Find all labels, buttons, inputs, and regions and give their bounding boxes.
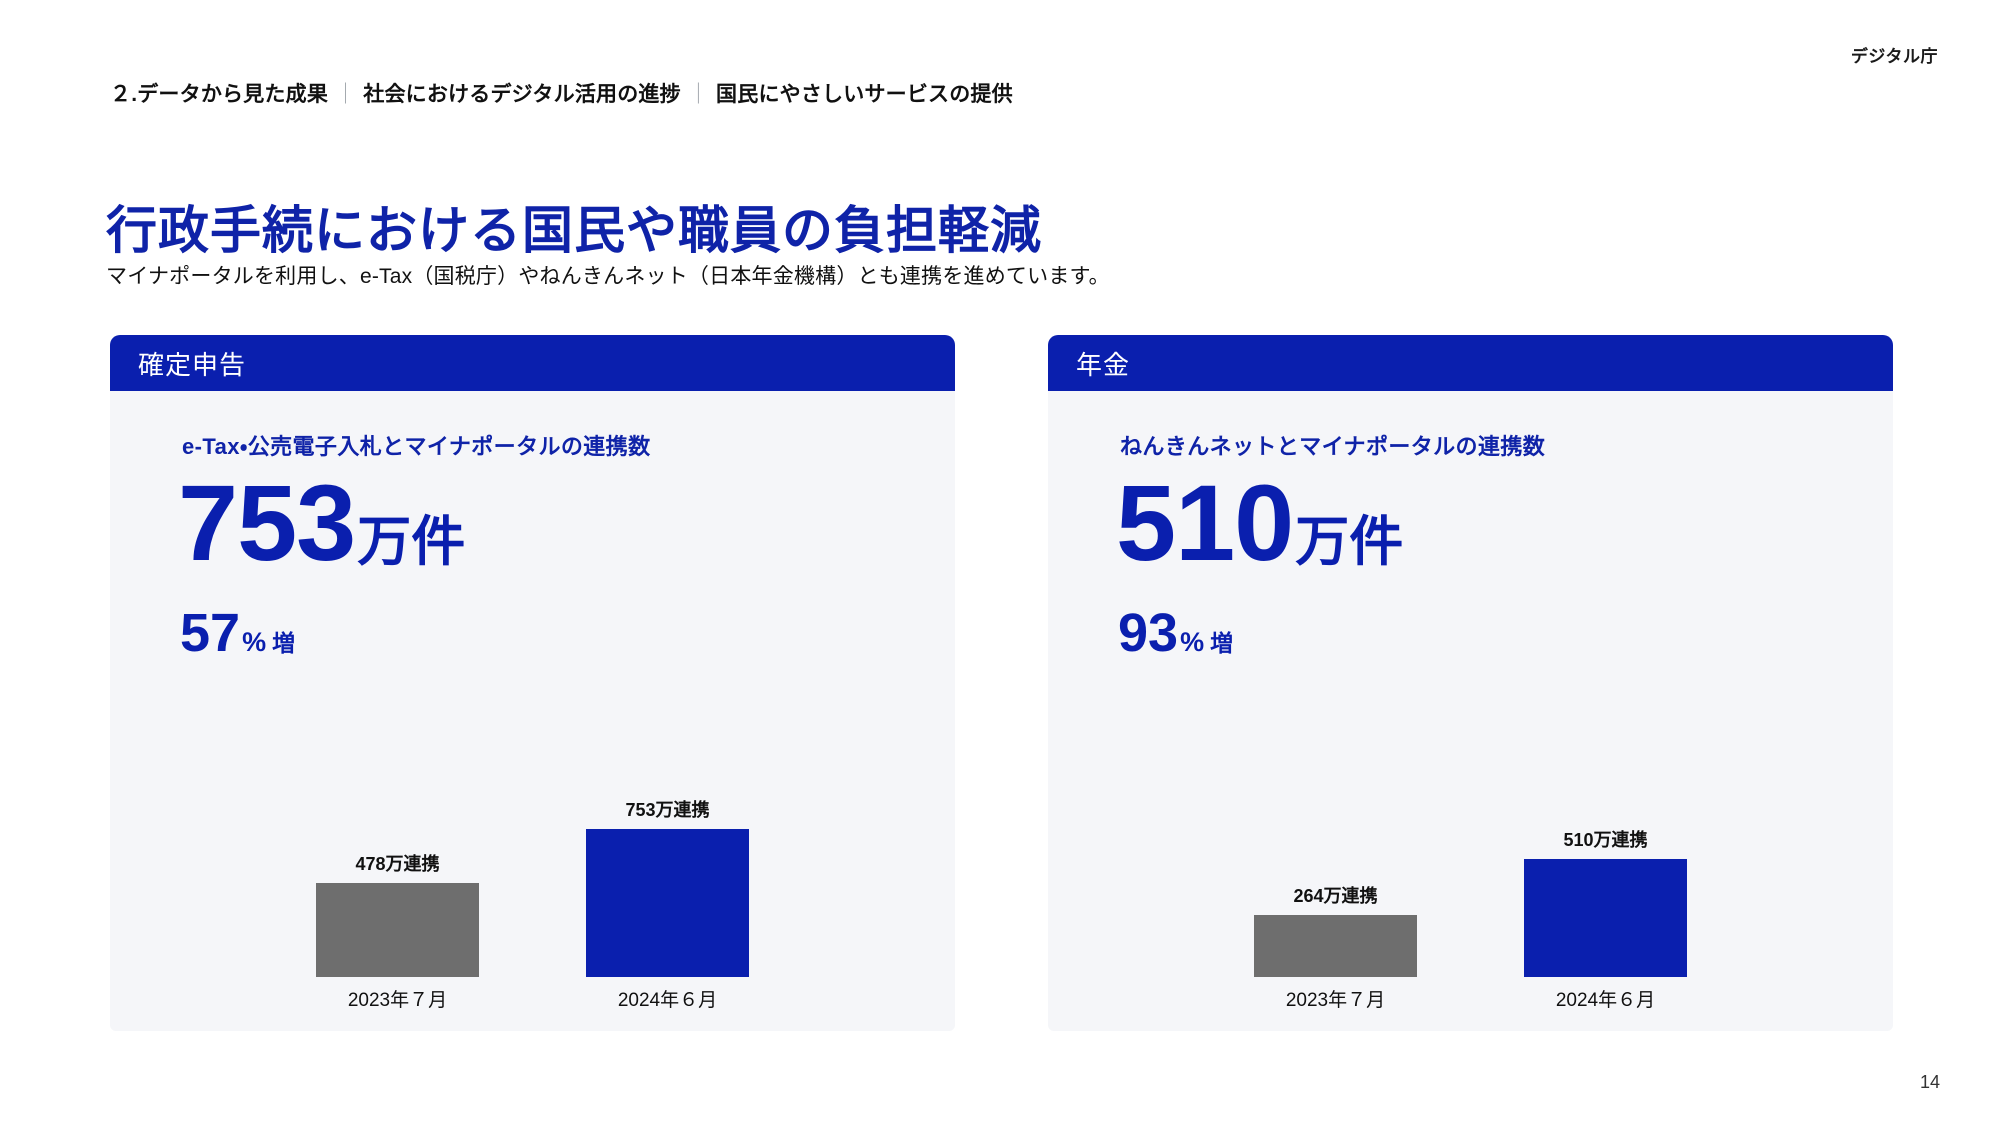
card-body: e-Tax・公売電子入札とマイナポータルの連携数 753万件 57%増 478万… xyxy=(110,391,955,1031)
bar-previous xyxy=(1254,915,1417,977)
digital-agency-logo: デジタル庁 xyxy=(1851,42,1938,67)
bar-value-label: 264万連携 xyxy=(1293,882,1377,908)
growth-metric-value: 57 xyxy=(180,603,240,663)
headline-metric-value: 510 xyxy=(1116,462,1293,583)
bar-chart-plot-area: 264万連携 510万連携 xyxy=(1048,709,1893,977)
card-pension: 年金 ねんきんネットとマイナポータルの連携数 510万件 93%増 264万連携… xyxy=(1048,335,1893,1031)
x-axis-tick-label: 2024年６月 xyxy=(1471,985,1741,1013)
percent-sign: % xyxy=(242,627,266,657)
card-body: ねんきんネットとマイナポータルの連携数 510万件 93%増 264万連携 51… xyxy=(1048,391,1893,1031)
breadcrumb-item-1: ２.データから見た成果 xyxy=(110,83,328,106)
stat-label: e-Tax・公売電子入札とマイナポータルの連携数 xyxy=(182,429,650,461)
growth-metric-suffix: 増 xyxy=(1210,630,1233,656)
breadcrumb-separator: ｜ xyxy=(328,83,363,106)
bar-group-previous: 478万連携 xyxy=(263,709,533,977)
stat-label: ねんきんネットとマイナポータルの連携数 xyxy=(1120,429,1545,461)
headline-metric: 510万件 xyxy=(1116,469,1403,577)
x-axis-tick-label: 2023年７月 xyxy=(263,985,533,1013)
bar-current xyxy=(1524,859,1687,977)
headline-metric: 753万件 xyxy=(178,469,465,577)
card-header-title: 年金 xyxy=(1076,345,1130,382)
growth-metric: 93%増 xyxy=(1118,606,1233,660)
breadcrumb-item-2: 社会におけるデジタル活用の進捗 xyxy=(363,83,681,106)
page-number: 14 xyxy=(1920,1072,1940,1093)
card-header-title: 確定申告 xyxy=(138,345,246,382)
headline-metric-value: 753 xyxy=(178,462,355,583)
bar-chart: 478万連携 753万連携 2023年７月 2024年６月 xyxy=(110,671,955,1031)
x-axis-tick-label: 2023年７月 xyxy=(1201,985,1471,1013)
bar-chart-x-axis: 2023年７月 2024年６月 xyxy=(1048,985,1893,1013)
bar-group-current: 753万連携 xyxy=(533,709,803,977)
bar-chart: 264万連携 510万連携 2023年７月 2024年６月 xyxy=(1048,671,1893,1031)
page-subtitle: マイナポータルを利用し、e-Tax（国税庁）やねんきんネット（日本年金機構）とも… xyxy=(106,260,1110,290)
breadcrumb-item-3: 国民にやさしいサービスの提供 xyxy=(716,83,1013,106)
card-tax-return: 確定申告 e-Tax・公売電子入札とマイナポータルの連携数 753万件 57%増… xyxy=(110,335,955,1031)
bar-chart-x-axis: 2023年７月 2024年６月 xyxy=(110,985,955,1013)
growth-metric-value: 93 xyxy=(1118,603,1178,663)
bar-current xyxy=(586,829,749,977)
breadcrumb: ２.データから見た成果｜社会におけるデジタル活用の進捗｜国民にやさしいサービスの… xyxy=(110,78,1013,108)
breadcrumb-separator: ｜ xyxy=(681,83,716,106)
growth-metric-suffix: 増 xyxy=(272,630,295,656)
bar-group-current: 510万連携 xyxy=(1471,709,1741,977)
bar-value-label: 510万連携 xyxy=(1563,826,1647,852)
bar-chart-plot-area: 478万連携 753万連携 xyxy=(110,709,955,977)
page-title: 行政手続における国民や職員の負担軽減 xyxy=(106,189,1042,263)
bar-previous xyxy=(316,883,479,977)
bar-value-label: 753万連携 xyxy=(625,796,709,822)
card-header: 確定申告 xyxy=(110,335,955,391)
card-header: 年金 xyxy=(1048,335,1893,391)
percent-sign: % xyxy=(1180,627,1204,657)
bar-value-label: 478万連携 xyxy=(355,850,439,876)
headline-metric-unit: 万件 xyxy=(357,512,465,572)
bar-group-previous: 264万連携 xyxy=(1201,709,1471,977)
x-axis-tick-label: 2024年６月 xyxy=(533,985,803,1013)
growth-metric: 57%増 xyxy=(180,606,295,660)
headline-metric-unit: 万件 xyxy=(1295,512,1403,572)
